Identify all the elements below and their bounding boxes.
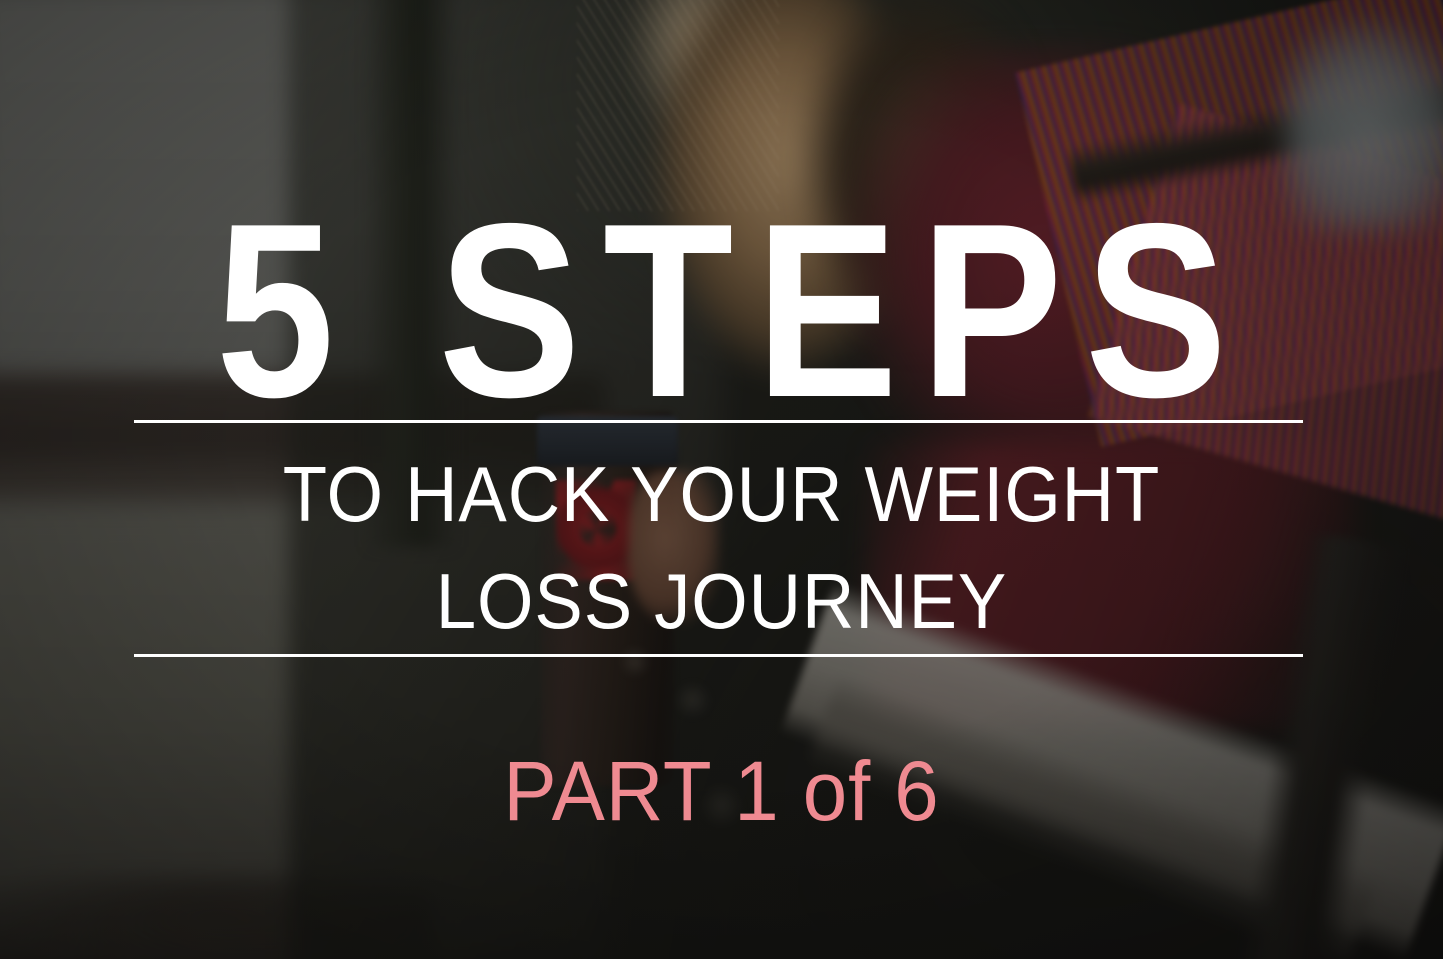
part-label: PART 1 of 6 — [36, 749, 1407, 833]
subheadline-line-2: LOSS JOURNEY — [51, 548, 1393, 655]
hero-banner: 5 STEPS TO HACK YOUR WEIGHT LOSS JOURNEY… — [0, 0, 1443, 959]
banner-content: 5 STEPS TO HACK YOUR WEIGHT LOSS JOURNEY… — [0, 0, 1443, 959]
banner-headline: 5 STEPS — [101, 186, 1342, 434]
banner-subheadline: TO HACK YOUR WEIGHT LOSS JOURNEY — [51, 441, 1393, 655]
top-divider — [134, 420, 1303, 423]
subheadline-line-1: TO HACK YOUR WEIGHT — [51, 441, 1393, 548]
bottom-divider — [134, 654, 1303, 657]
